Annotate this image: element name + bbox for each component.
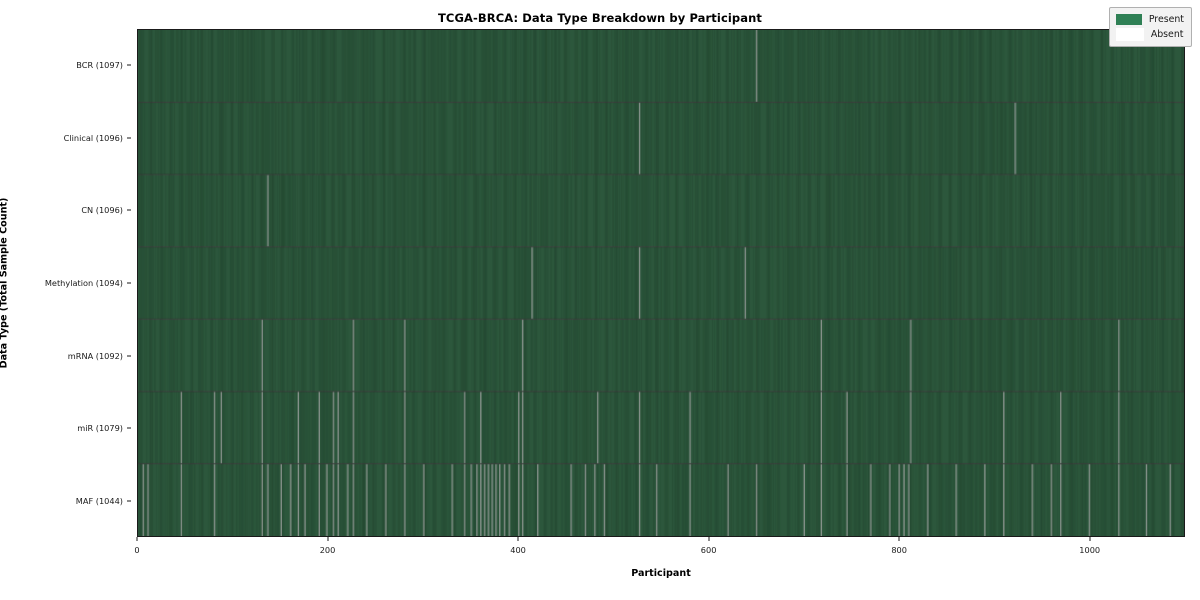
chart-title: TCGA-BRCA: Data Type Breakdown by Partic… bbox=[0, 11, 1200, 25]
x-tick-label: 200 bbox=[320, 545, 336, 555]
x-tick-label: 600 bbox=[701, 545, 717, 555]
legend-label: Present bbox=[1149, 14, 1184, 25]
x-tick-mark bbox=[899, 537, 900, 541]
legend-item: Present bbox=[1116, 13, 1184, 26]
y-tick-mark bbox=[127, 283, 131, 284]
y-tick-mark bbox=[127, 65, 131, 66]
y-tick-label: miR (1079) bbox=[77, 423, 123, 433]
x-tick-label: 1000 bbox=[1079, 545, 1100, 555]
heatmap-plot-area bbox=[137, 29, 1185, 537]
chart-figure: TCGA-BRCA: Data Type Breakdown by Partic… bbox=[0, 0, 1200, 600]
y-tick-mark bbox=[127, 137, 131, 138]
y-tick-label: MAF (1044) bbox=[76, 496, 123, 506]
y-tick-label: CN (1096) bbox=[81, 205, 123, 215]
x-axis: 02004006008001000 bbox=[137, 537, 1185, 563]
y-tick-mark bbox=[127, 500, 131, 501]
legend-swatch-present bbox=[1116, 14, 1142, 25]
legend-item: Absent bbox=[1116, 28, 1184, 41]
y-tick-mark bbox=[127, 355, 131, 356]
y-tick-mark bbox=[127, 428, 131, 429]
y-tick-label: Clinical (1096) bbox=[64, 133, 123, 143]
legend-swatch-absent bbox=[1116, 28, 1144, 41]
x-tick-label: 400 bbox=[510, 545, 526, 555]
x-axis-title: Participant bbox=[137, 568, 1185, 579]
legend-label: Absent bbox=[1151, 29, 1184, 40]
x-tick-mark bbox=[708, 537, 709, 541]
y-tick-label: BCR (1097) bbox=[76, 60, 123, 70]
x-tick-mark bbox=[1089, 537, 1090, 541]
x-tick-label: 0 bbox=[134, 545, 139, 555]
y-tick-mark bbox=[127, 210, 131, 211]
x-tick-mark bbox=[518, 537, 519, 541]
x-tick-mark bbox=[327, 537, 328, 541]
y-axis: BCR (1097)Clinical (1096)CN (1096)Methyl… bbox=[0, 29, 131, 537]
heatmap-canvas bbox=[138, 30, 1184, 536]
chart-legend: PresentAbsent bbox=[1109, 7, 1192, 47]
y-tick-label: Methylation (1094) bbox=[45, 278, 123, 288]
x-tick-mark bbox=[137, 537, 138, 541]
y-tick-label: mRNA (1092) bbox=[68, 351, 123, 361]
x-tick-label: 800 bbox=[891, 545, 907, 555]
